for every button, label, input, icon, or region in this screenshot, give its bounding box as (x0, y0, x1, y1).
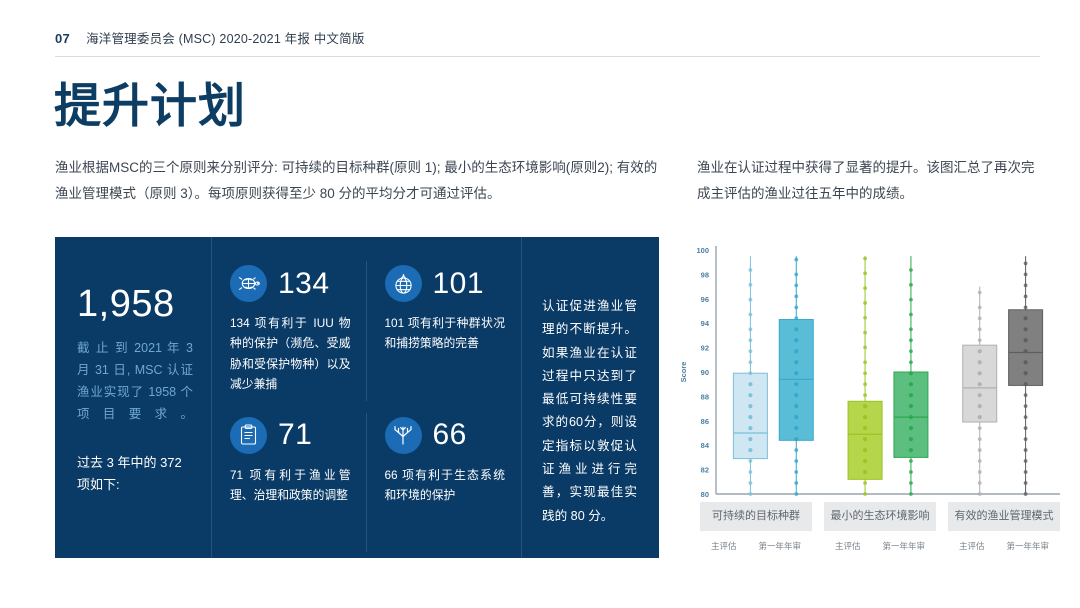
panel-highlight-column: 1,958 截 止 到 2021 年 3 月 31 日, MSC 认证渔业实现了… (55, 237, 212, 558)
svg-text:96: 96 (701, 295, 709, 304)
panel-side-note: 认证促进渔业管理的不断提升。如果渔业在认证过程中只达到了最低可持续性要求的60分… (522, 237, 659, 558)
boxplot-svg: 80828486889092949698100Score (676, 238, 1066, 508)
stats-row-bottom: 71 71 项有利于渔业管理、治理和政策的调整 (212, 407, 521, 559)
svg-text:100: 100 (696, 246, 709, 255)
svg-text:84: 84 (701, 441, 710, 450)
svg-text:82: 82 (701, 466, 709, 475)
stat-card-net-globe: 101 101 项有利于种群状况和捕捞策略的完善 (367, 255, 522, 407)
category-label: 最小的生态环境影响 (824, 502, 936, 531)
header-title: 海洋管理委员会 (MSC) 2020-2021 年报 中文简版 (86, 28, 364, 47)
svg-text:92: 92 (701, 344, 709, 353)
page-title: 提升计划 (54, 80, 246, 132)
subcategory-labels: 主评估 第一年年审 (948, 540, 1060, 552)
subcategory-label: 主评估 (711, 540, 737, 552)
header-page-number: 07 (55, 31, 70, 46)
subcategory-label: 主评估 (835, 540, 861, 552)
subcategory-label: 第一年年审 (882, 540, 925, 552)
stat-description: 134 项有利于 IUU 物种的保护（濒危、受威胁和受保护物种）以及减少兼捕 (230, 313, 351, 394)
svg-text:90: 90 (701, 368, 709, 377)
subcategory-labels: 主评估 第一年年审 (824, 540, 936, 552)
stat-value: 71 (278, 420, 312, 450)
stat-card-turtle: 134 134 项有利于 IUU 物种的保护（濒危、受威胁和受保护物种）以及减少… (212, 255, 367, 407)
stat-value: 66 (433, 420, 467, 450)
subcategory-labels: 主评估 第一年年审 (700, 540, 812, 552)
stat-card-clipboard: 71 71 项有利于渔业管理、治理和政策的调整 (212, 407, 367, 559)
chart-category-labels: 可持续的目标种群 主评估 第一年年审 最小的生态环境影响 主评估 第一年年审 有… (700, 502, 1060, 552)
stat-card-header: 134 (230, 265, 351, 302)
category-label: 可持续的目标种群 (700, 502, 812, 531)
stat-description: 66 项有利于生态系统和环境的保护 (385, 465, 506, 506)
highlight-number: 1,958 (77, 285, 193, 323)
svg-text:80: 80 (701, 490, 709, 499)
subcategory-label: 第一年年审 (758, 540, 801, 552)
page-header: 07 海洋管理委员会 (MSC) 2020-2021 年报 中文简版 (55, 28, 1040, 57)
category-label: 有效的渔业管理模式 (948, 502, 1060, 531)
subcategory-label: 主评估 (959, 540, 985, 552)
stat-value: 101 (433, 269, 485, 299)
svg-text:94: 94 (701, 319, 710, 328)
stat-card-header: 71 (230, 417, 351, 454)
net-globe-icon (385, 265, 422, 302)
stat-card-coral: 66 66 项有利于生态系统和环境的保护 (367, 407, 522, 559)
turtle-icon (230, 265, 267, 302)
stat-value: 134 (278, 269, 330, 299)
coral-icon (385, 417, 422, 454)
panel-stats-grid: 134 134 项有利于 IUU 物种的保护（濒危、受威胁和受保护物种）以及减少… (212, 237, 522, 558)
stats-row-top: 134 134 项有利于 IUU 物种的保护（濒危、受威胁和受保护物种）以及减少… (212, 255, 521, 407)
panel-footnote: 过去 3 年中的 372 项如下: (77, 452, 193, 496)
highlight-caption: 截 止 到 2021 年 3 月 31 日, MSC 认证渔业实现了 1958 … (77, 338, 193, 426)
stat-description: 101 项有利于种群状况和捕捞策略的完善 (385, 313, 506, 354)
report-page: 07 海洋管理委员会 (MSC) 2020-2021 年报 中文简版 提升计划 … (0, 0, 1080, 608)
svg-text:98: 98 (701, 270, 709, 279)
category-group-0: 可持续的目标种群 主评估 第一年年审 (700, 502, 812, 552)
svg-text:88: 88 (701, 392, 709, 401)
stat-description: 71 项有利于渔业管理、治理和政策的调整 (230, 465, 351, 506)
category-group-1: 最小的生态环境影响 主评估 第一年年审 (824, 502, 936, 552)
clipboard-icon (230, 417, 267, 454)
subcategory-label: 第一年年审 (1006, 540, 1049, 552)
intro-paragraph-right: 渔业在认证过程中获得了显著的提升。该图汇总了再次完成主评估的渔业过往五年中的成绩… (697, 155, 1047, 208)
intro-paragraph-left: 渔业根据MSC的三个原则来分别评分: 可持续的目标种群(原则 1); 最小的生态… (55, 155, 670, 208)
svg-text:Score: Score (679, 362, 688, 383)
category-group-2: 有效的渔业管理模式 主评估 第一年年审 (948, 502, 1060, 552)
stat-card-header: 101 (385, 265, 506, 302)
svg-text:86: 86 (701, 417, 709, 426)
statistics-panel: 1,958 截 止 到 2021 年 3 月 31 日, MSC 认证渔业实现了… (55, 237, 659, 558)
stat-card-header: 66 (385, 417, 506, 454)
